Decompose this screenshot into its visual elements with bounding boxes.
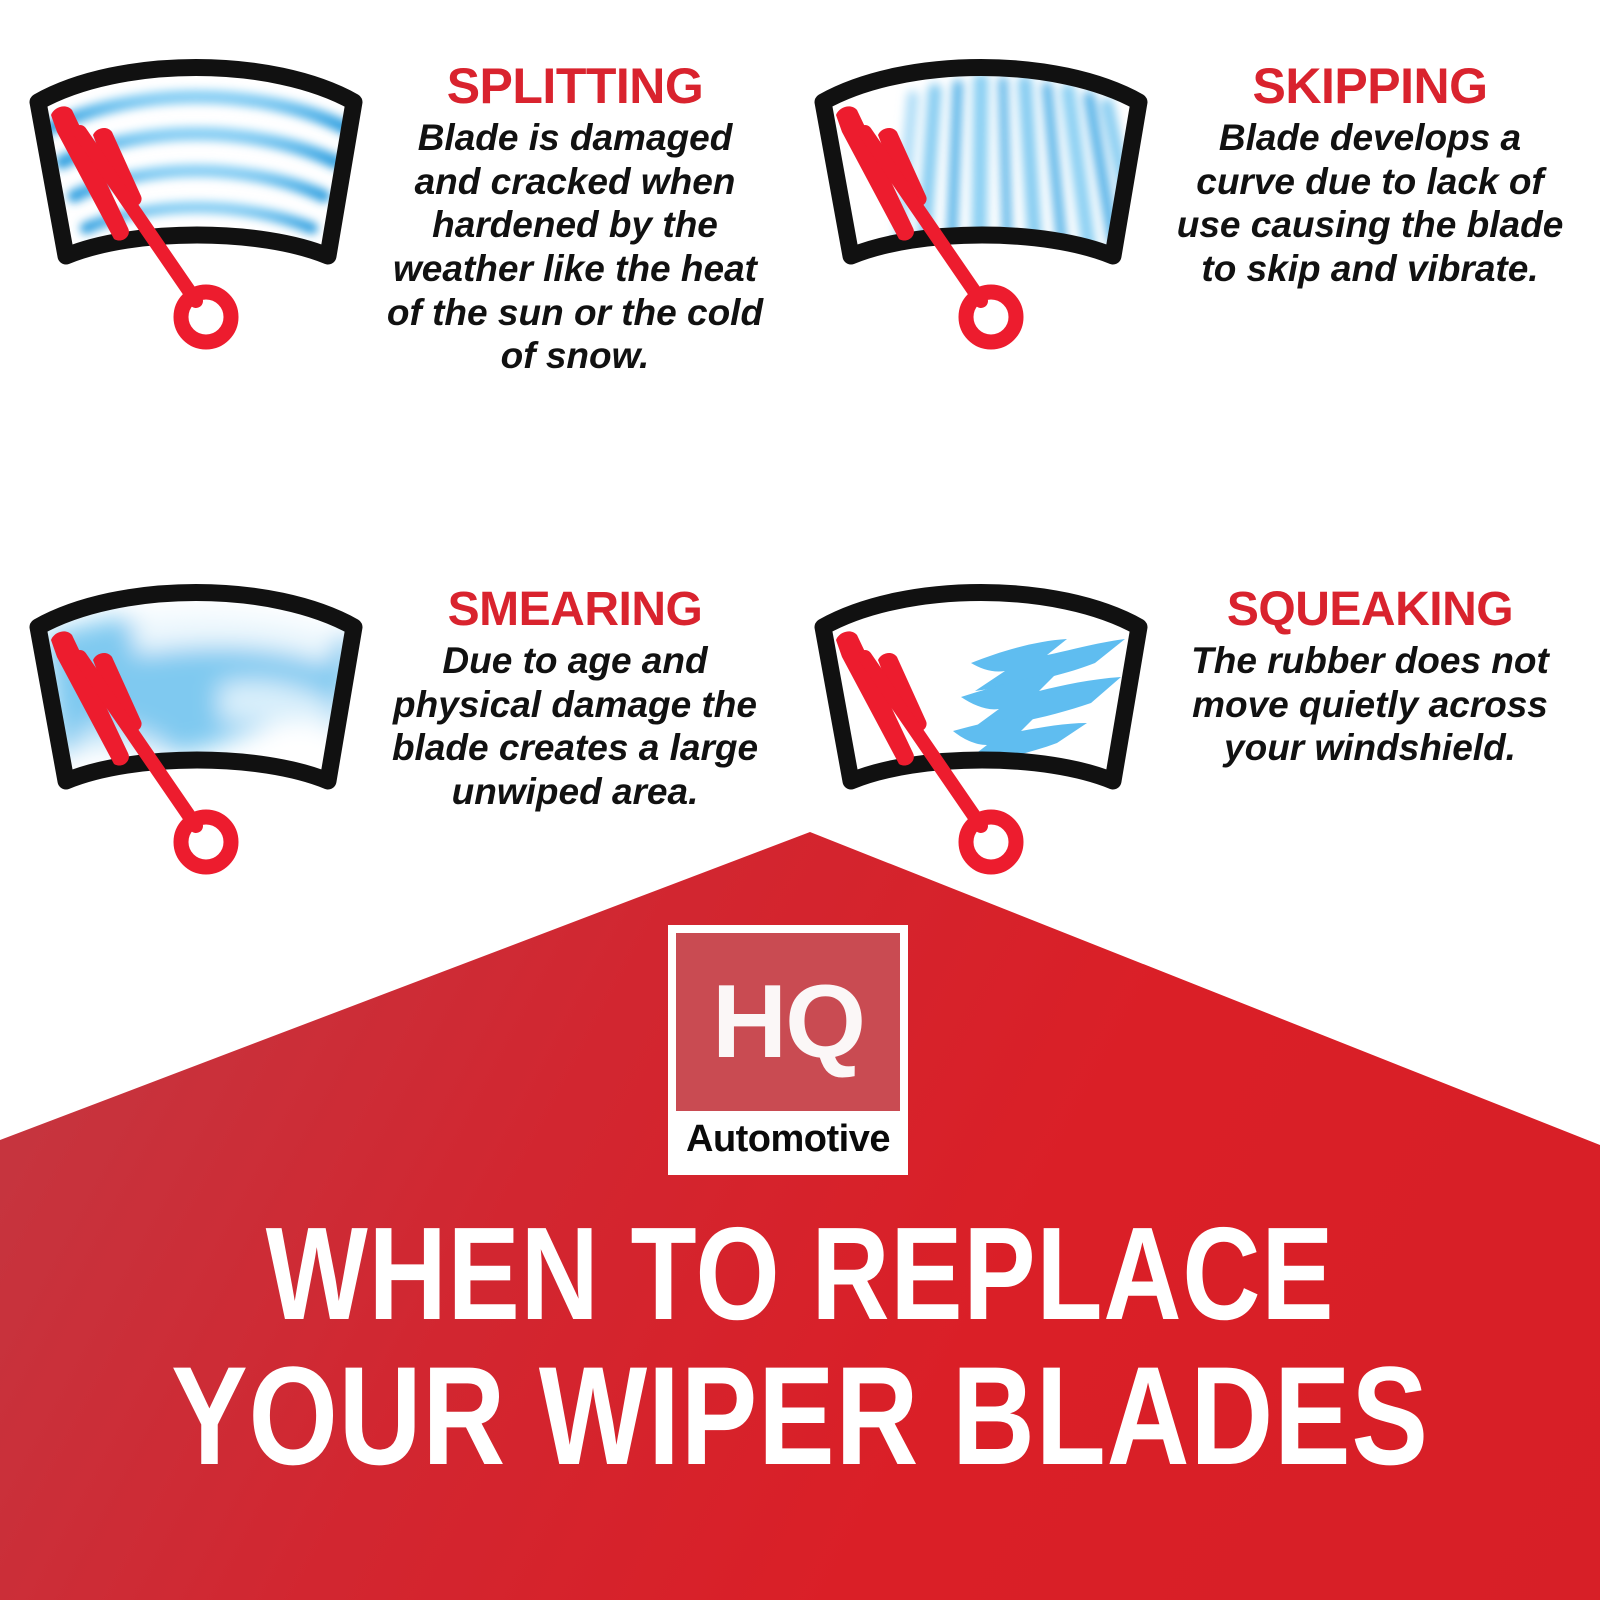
bottom-banner: HQ Automotive WHEN TO REPLACE YOUR WIPER… [0, 820, 1600, 1600]
symptom-copy: SMEARING Due to age and physical damage … [380, 545, 790, 814]
logo-mark-text: HQ [712, 970, 864, 1074]
logo-wordmark-text: Automotive [686, 1120, 890, 1158]
windshield-wiper-arc-streaks-icon [10, 20, 380, 350]
hq-automotive-logo: HQ Automotive [668, 925, 908, 1175]
headline-line-1: WHEN TO REPLACE [144, 1210, 1456, 1338]
symptom-description-squeaking: The rubber does not move quietly across … [1165, 639, 1575, 770]
symptom-copy: SQUEAKING The rubber does not move quiet… [1165, 545, 1585, 770]
symptom-title-splitting: SPLITTING [380, 60, 770, 112]
windshield-wiper-radial-streaks-icon [795, 20, 1165, 350]
symptom-panel-splitting: SPLITTING Blade is damaged and cracked w… [10, 20, 790, 378]
symptom-title-squeaking: SQUEAKING [1165, 585, 1575, 635]
logo-mark-box: HQ [676, 933, 900, 1111]
symptom-title-smearing: SMEARING [380, 585, 770, 635]
banner-headline: WHEN TO REPLACE YOUR WIPER BLADES [0, 1210, 1600, 1484]
infographic-root: SPLITTING Blade is damaged and cracked w… [0, 0, 1600, 1600]
symptom-panel-skipping: SKIPPING Blade develops a curve due to l… [795, 20, 1585, 350]
symptom-copy: SPLITTING Blade is damaged and cracked w… [380, 20, 790, 378]
symptom-title-skipping: SKIPPING [1165, 60, 1575, 112]
symptom-description-splitting: Blade is damaged and cracked when harden… [380, 116, 770, 378]
logo-wordmark-box: Automotive [676, 1111, 900, 1167]
symptom-description-skipping: Blade develops a curve due to lack of us… [1165, 116, 1575, 291]
headline-line-2: YOUR WIPER BLADES [144, 1348, 1456, 1484]
symptom-panel-grid: SPLITTING Blade is damaged and cracked w… [0, 0, 1600, 860]
symptom-description-smearing: Due to age and physical damage the blade… [380, 639, 770, 814]
symptom-copy: SKIPPING Blade develops a curve due to l… [1165, 20, 1585, 291]
